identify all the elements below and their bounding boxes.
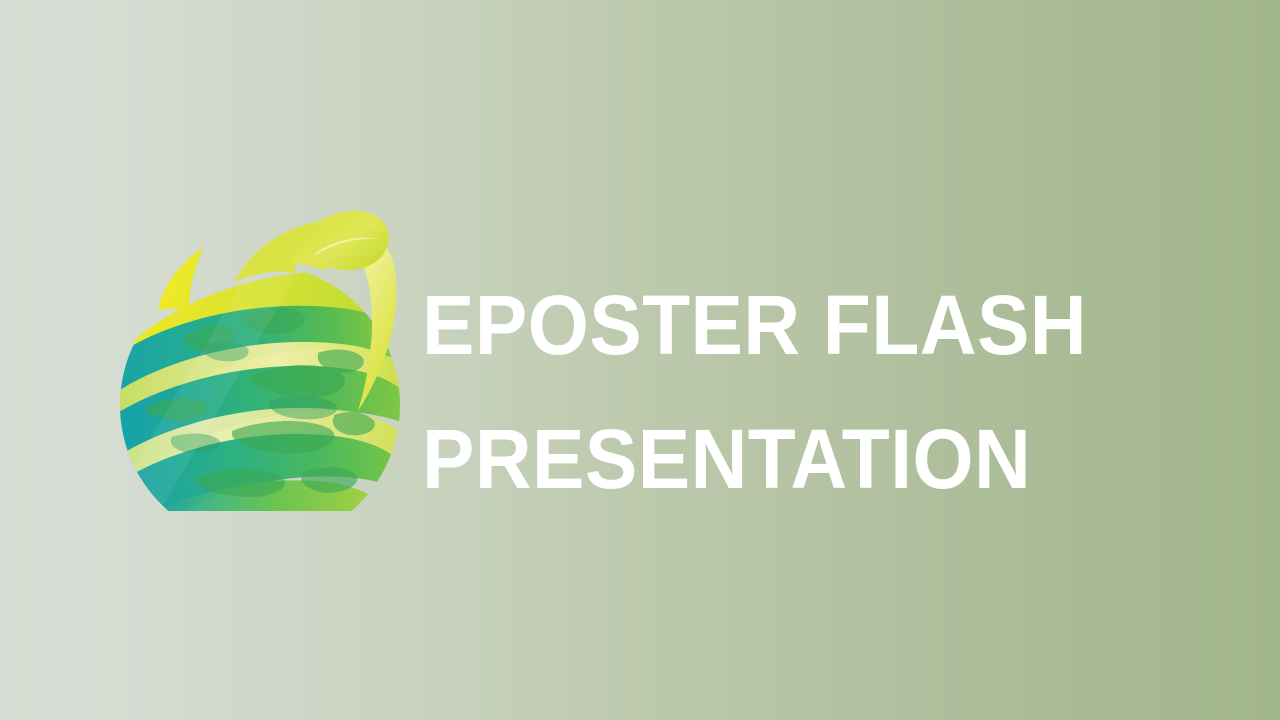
title-line-1: EPOSTER FLASH (422, 258, 1142, 392)
slide-canvas: EPOSTER FLASH PRESENTATION (0, 0, 1280, 720)
title-line-2: PRESENTATION (422, 392, 1142, 526)
spiral-globe-leaf-logo (112, 205, 408, 511)
slide-title: EPOSTER FLASH PRESENTATION (422, 258, 1192, 526)
